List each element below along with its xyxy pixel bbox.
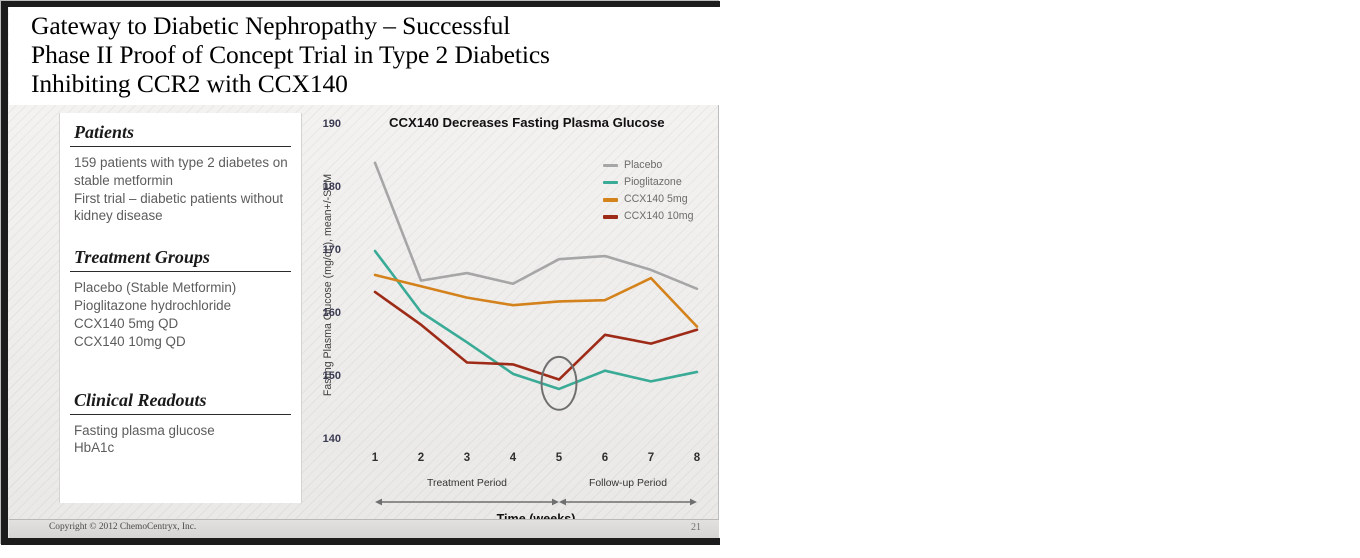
y-axis-tick: 170 — [307, 244, 341, 256]
legend-label: Placebo — [624, 157, 662, 174]
legend-item[interactable]: Placebo — [603, 157, 694, 174]
treatment-line-2: Pioglitazone hydrochloride — [74, 297, 291, 315]
readout-line-1: Fasting plasma glucose — [74, 422, 291, 440]
chart-legend: PlaceboPioglitazoneCCX140 5mgCCX140 10mg — [603, 157, 694, 226]
section-body-patients: 159 patients with type 2 diabetes on sta… — [70, 154, 291, 225]
section-clinical-readouts: Clinical Readouts Fasting plasma glucose… — [70, 381, 291, 458]
period-label: Follow-up Period — [559, 478, 697, 489]
legend-label: Pioglitazone — [624, 174, 682, 191]
title-line-1: Gateway to Diabetic Nephropathy – Succes… — [31, 11, 706, 40]
section-heading-patients: Patients — [70, 113, 291, 146]
y-axis-tick: 190 — [307, 118, 341, 130]
legend-color-swatch — [603, 164, 618, 167]
legend-item[interactable]: CCX140 10mg — [603, 208, 694, 225]
legend-label: CCX140 10mg — [624, 208, 694, 225]
legend-item[interactable]: CCX140 5mg — [603, 191, 694, 208]
treatment-line-3: CCX140 5mg QD — [74, 315, 291, 333]
legend-color-swatch — [603, 215, 618, 218]
treatment-line-4: CCX140 10mg QD — [74, 333, 291, 351]
fasting-plasma-glucose-chart: CCX140 Decreases Fasting Plasma Glucose … — [311, 111, 711, 503]
y-axis-tick: 180 — [307, 181, 341, 193]
section-heading-clinical-readouts: Clinical Readouts — [70, 381, 291, 414]
section-body-clinical-readouts: Fasting plasma glucose HbA1c — [70, 422, 291, 458]
spacer — [70, 225, 291, 238]
page-title: Gateway to Diabetic Nephropathy – Succes… — [31, 11, 706, 98]
section-divider — [70, 271, 291, 272]
patients-line-1: 159 patients with type 2 diabetes on — [74, 154, 291, 172]
section-body-treatment-groups: Placebo (Stable Metformin) Pioglitazone … — [70, 279, 291, 350]
study-summary-panel: Patients 159 patients with type 2 diabet… — [59, 113, 302, 503]
period-label: Treatment Period — [375, 478, 559, 489]
series-line-ccx140-5mg — [375, 275, 697, 327]
period-arrow — [559, 496, 697, 508]
legend-item[interactable]: Pioglitazone — [603, 174, 694, 191]
series-line-ccx140-10mg — [375, 292, 697, 380]
section-treatment-groups: Treatment Groups Placebo (Stable Metform… — [70, 238, 291, 350]
period-arrow — [375, 496, 559, 508]
legend-color-swatch — [603, 181, 618, 184]
treatment-line-1: Placebo (Stable Metformin) — [74, 279, 291, 297]
slide-left-border — [1, 1, 8, 545]
y-axis-tick: 160 — [307, 307, 341, 319]
section-divider — [70, 146, 291, 147]
spacer — [70, 351, 291, 381]
copyright-notice: Copyright © 2012 ChemoCentryx, Inc. — [49, 522, 196, 532]
legend-color-swatch — [603, 198, 618, 201]
section-divider — [70, 414, 291, 415]
y-axis-tick: 150 — [307, 370, 341, 382]
title-line-2: Phase II Proof of Concept Trial in Type … — [31, 40, 706, 69]
title-line-3: Inhibiting CCR2 with CCX140 — [31, 69, 706, 98]
section-heading-treatment-groups: Treatment Groups — [70, 238, 291, 271]
presentation-slide: Gateway to Diabetic Nephropathy – Succes… — [0, 0, 719, 544]
section-patients: Patients 159 patients with type 2 diabet… — [70, 113, 291, 225]
legend-label: CCX140 5mg — [624, 191, 688, 208]
patients-line-3: First trial – diabetic patients without — [74, 190, 291, 208]
slide-page-number: 21 — [691, 522, 701, 533]
title-band: Gateway to Diabetic Nephropathy – Succes… — [9, 7, 719, 105]
slide-bottom-border — [1, 538, 720, 545]
patients-line-4: kidney disease — [74, 207, 291, 225]
patients-line-2: stable metformin — [74, 172, 291, 190]
slide-screenshot: Gateway to Diabetic Nephropathy – Succes… — [0, 0, 1360, 558]
y-axis-tick: 140 — [307, 433, 341, 445]
readout-line-2: HbA1c — [74, 439, 291, 457]
